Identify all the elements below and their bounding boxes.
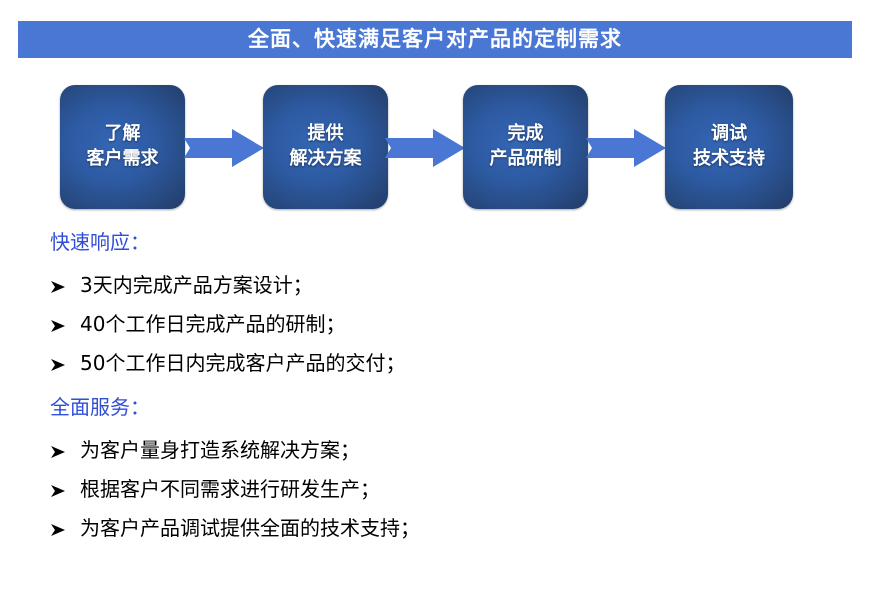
list-item-text: 50个工作日内完成客户产品的交付； xyxy=(80,353,850,373)
list-item-text: 为客户产品调试提供全面的技术支持； xyxy=(80,518,850,538)
page-title: 全面、快速满足客户对产品的定制需求 xyxy=(248,29,622,50)
bullet-arrow-icon xyxy=(50,318,80,335)
list-item-text: 为客户量身打造系统解决方案； xyxy=(80,440,850,460)
content-section-fast-response: 快速响应： 3天内完成产品方案设计； 40个工作日完成产品的研制； xyxy=(50,226,850,383)
flow-step-box-1[interactable]: 了解 客户需求 xyxy=(60,85,185,209)
bullet-arrow-icon xyxy=(50,522,80,539)
bullet-arrow-icon xyxy=(50,444,80,461)
bullet-list-2: 为客户量身打造系统解决方案； 根据客户不同需求进行研发生产； 为客户产品调试提供… xyxy=(50,431,850,548)
right-arrow-icon xyxy=(586,128,666,168)
flow-step-box-4[interactable]: 调试 技术支持 xyxy=(665,85,793,209)
flow-step-label-1: 了解 客户需求 xyxy=(87,122,159,172)
list-item: 40个工作日完成产品的研制； xyxy=(50,305,850,344)
list-item-text: 3天内完成产品方案设计； xyxy=(80,275,850,295)
list-item: 50个工作日内完成客户产品的交付； xyxy=(50,344,850,383)
bullet-arrow-icon xyxy=(50,483,80,500)
list-item: 3天内完成产品方案设计； xyxy=(50,266,850,305)
list-item: 根据客户不同需求进行研发生产； xyxy=(50,470,850,509)
list-item-text: 40个工作日完成产品的研制； xyxy=(80,314,850,334)
content-section-full-service: 全面服务： 为客户量身打造系统解决方案； 根据客户不同需求进行研发生产； xyxy=(50,391,850,548)
flow-arrow-1 xyxy=(184,128,264,168)
list-item-text: 根据客户不同需求进行研发生产； xyxy=(80,479,850,499)
right-arrow-icon xyxy=(184,128,264,168)
header-banner: 全面、快速满足客户对产品的定制需求 xyxy=(18,21,852,58)
flow-step-label-4: 调试 技术支持 xyxy=(693,122,765,172)
right-arrow-icon xyxy=(385,128,465,168)
flow-step-label-3: 完成 产品研制 xyxy=(490,122,562,172)
bullet-list-1: 3天内完成产品方案设计； 40个工作日完成产品的研制； 50个工作日内完成客户产… xyxy=(50,266,850,383)
bullet-arrow-icon xyxy=(50,279,80,296)
flow-arrow-3 xyxy=(586,128,666,168)
bullet-arrow-icon xyxy=(50,357,80,374)
flow-step-box-2[interactable]: 提供 解决方案 xyxy=(263,85,388,209)
process-flow-diagram: 了解 客户需求 提供 解决方案 完成 产品研制 调试 技术支持 xyxy=(0,85,875,211)
flow-step-box-3[interactable]: 完成 产品研制 xyxy=(463,85,588,209)
section-heading-2: 全面服务： xyxy=(50,391,850,425)
section-heading-1: 快速响应： xyxy=(50,226,850,260)
list-item: 为客户产品调试提供全面的技术支持； xyxy=(50,509,850,548)
list-item: 为客户量身打造系统解决方案； xyxy=(50,431,850,470)
content-body: 快速响应： 3天内完成产品方案设计； 40个工作日完成产品的研制； xyxy=(50,226,850,548)
flow-step-label-2: 提供 解决方案 xyxy=(290,122,362,172)
flow-arrow-2 xyxy=(385,128,465,168)
